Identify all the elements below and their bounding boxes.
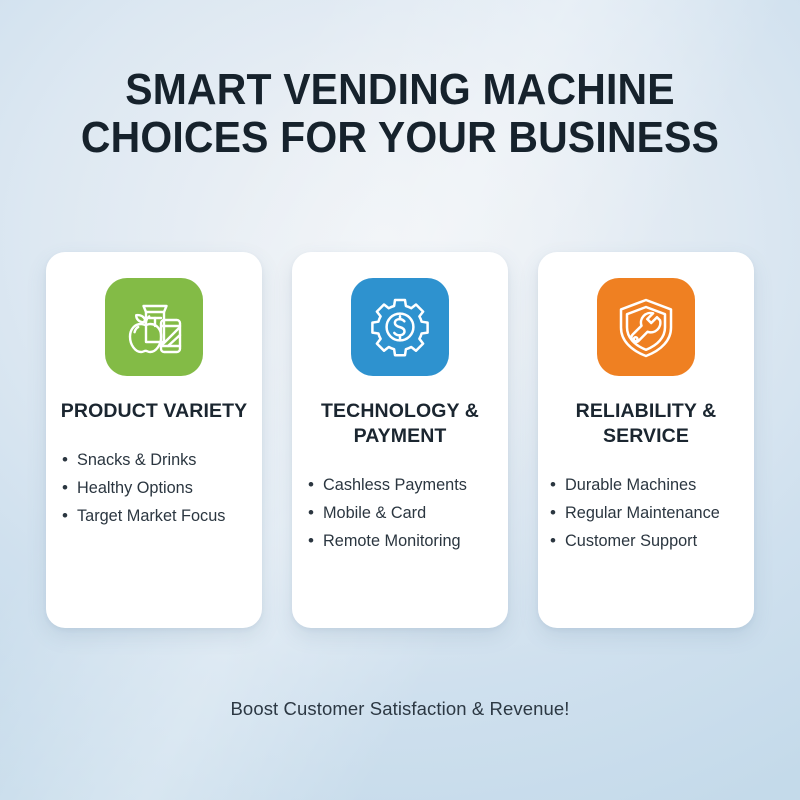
page-title-line-2: CHOICES FOR YOUR BUSINESS xyxy=(28,114,772,162)
list-item: Snacks & Drinks xyxy=(62,446,225,474)
list-item: Target Market Focus xyxy=(62,502,225,530)
list-item: Cashless Payments xyxy=(308,471,467,499)
list-item: Customer Support xyxy=(550,527,720,555)
bullet-list-product-variety: Snacks & Drinks Healthy Options Target M… xyxy=(46,446,225,530)
list-item: Remote Monitoring xyxy=(308,527,467,555)
feature-card-product-variety[interactable]: PRODUCT VARIETY Snacks & Drinks Healthy … xyxy=(46,252,262,628)
card-title-product-variety: PRODUCT VARIETY xyxy=(53,399,255,424)
bullet-list-technology-payment: Cashless Payments Mobile & Card Remote M… xyxy=(292,471,467,555)
shield-wrench-icon xyxy=(616,296,676,358)
icon-tile-technology-payment xyxy=(351,278,449,376)
feature-card-row: PRODUCT VARIETY Snacks & Drinks Healthy … xyxy=(46,252,754,630)
list-item: Healthy Options xyxy=(62,474,225,502)
poster-header: SMART VENDING MACHINE CHOICES FOR YOUR B… xyxy=(0,66,800,162)
card-title-technology-payment: TECHNOLOGY & PAYMENT xyxy=(292,399,508,449)
apple-snacks-drink-icon xyxy=(121,296,187,358)
icon-tile-product-variety xyxy=(105,278,203,376)
bullet-list-reliability-service: Durable Machines Regular Maintenance Cus… xyxy=(538,471,720,555)
gear-dollar-icon xyxy=(369,296,431,358)
feature-card-reliability-service[interactable]: RELIABILITY & SERVICE Durable Machines R… xyxy=(538,252,754,628)
icon-tile-reliability-service xyxy=(597,278,695,376)
infographic-poster: SMART VENDING MACHINE CHOICES FOR YOUR B… xyxy=(0,0,800,800)
feature-card-technology-payment[interactable]: TECHNOLOGY & PAYMENT Cashless Payments M… xyxy=(292,252,508,628)
card-title-reliability-service: RELIABILITY & SERVICE xyxy=(538,399,754,449)
poster-footer-tagline: Boost Customer Satisfaction & Revenue! xyxy=(0,698,800,720)
page-title-line-1: SMART VENDING MACHINE xyxy=(28,66,772,114)
list-item: Mobile & Card xyxy=(308,499,467,527)
list-item: Durable Machines xyxy=(550,471,720,499)
list-item: Regular Maintenance xyxy=(550,499,720,527)
